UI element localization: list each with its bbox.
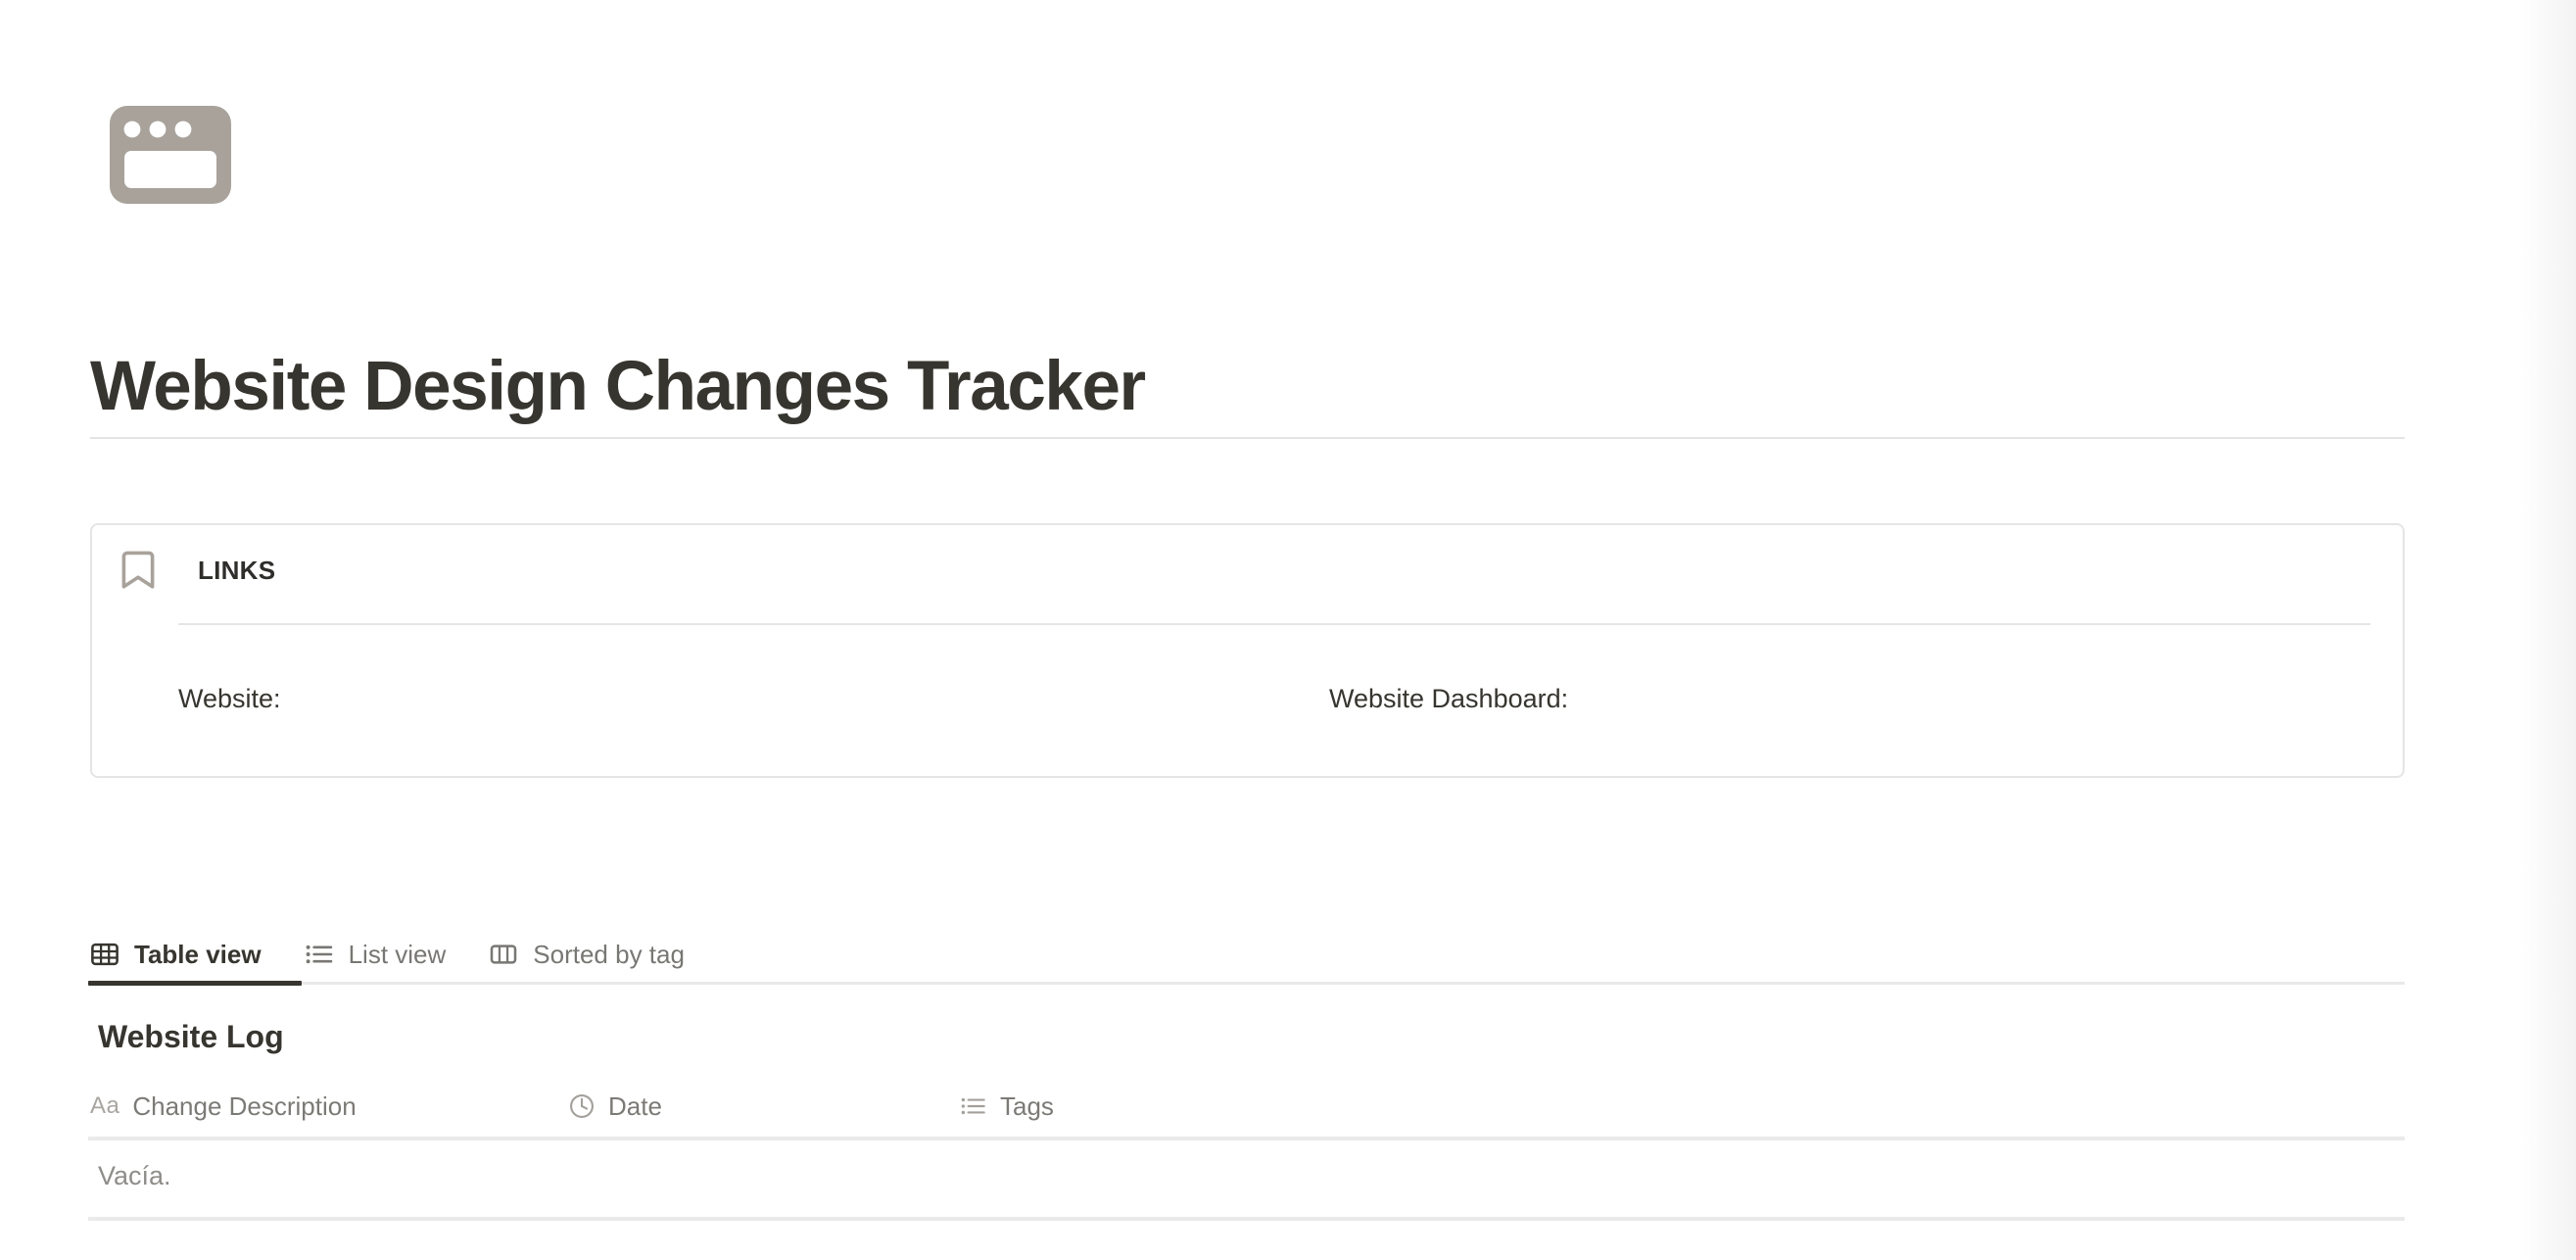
view-tabs: Table view List view — [90, 927, 2405, 982]
page-root: Website Design Changes Tracker LINKS Web… — [0, 0, 2576, 1260]
column-label: Tags — [1000, 1091, 1054, 1122]
column-label: Change Description — [132, 1091, 356, 1122]
database-title[interactable]: Website Log — [98, 1019, 284, 1055]
links-card-header: LINKS — [92, 551, 2403, 590]
link-field-website[interactable]: Website: — [178, 682, 1329, 716]
table-icon — [90, 940, 119, 969]
bookmark-icon — [121, 551, 155, 590]
database-divider-top — [88, 1137, 2405, 1140]
column-header-date[interactable]: Date — [568, 1091, 960, 1122]
tab-list-view[interactable]: List view — [305, 927, 447, 982]
tab-label: Sorted by tag — [533, 940, 685, 970]
links-heading: LINKS — [198, 556, 275, 586]
database-empty-row[interactable]: Vacía. — [98, 1161, 171, 1191]
links-card: LINKS Website: Website Dashboard: — [90, 523, 2405, 778]
tab-label: Table view — [134, 940, 262, 970]
list-icon — [305, 940, 334, 969]
links-fields-row: Website: Website Dashboard: — [178, 682, 2382, 716]
title-divider — [90, 437, 2405, 439]
tab-sorted-by-tag[interactable]: Sorted by tag — [489, 927, 685, 982]
database-divider-bottom — [88, 1217, 2405, 1221]
column-label: Date — [608, 1091, 662, 1122]
tab-label: List view — [349, 940, 447, 970]
scrollbar-gutter[interactable] — [2519, 0, 2576, 1260]
tab-table-view[interactable]: Table view — [90, 927, 262, 982]
link-field-website-dashboard[interactable]: Website Dashboard: — [1329, 682, 1568, 716]
browser-window-icon[interactable] — [108, 104, 233, 206]
column-header-tags[interactable]: Tags — [960, 1091, 1054, 1122]
tab-active-underline — [88, 981, 302, 986]
column-header-change-description[interactable]: Aa Change Description — [90, 1091, 568, 1122]
links-header-divider — [178, 623, 2370, 625]
aa-text-icon: Aa — [90, 1092, 119, 1120]
board-icon — [489, 940, 518, 969]
database-header-row: Aa Change Description Date — [90, 1076, 2405, 1137]
tabs-divider — [90, 982, 2405, 985]
multi-select-list-icon — [960, 1092, 987, 1120]
page-title[interactable]: Website Design Changes Tracker — [90, 349, 1145, 425]
clock-icon — [568, 1092, 596, 1120]
